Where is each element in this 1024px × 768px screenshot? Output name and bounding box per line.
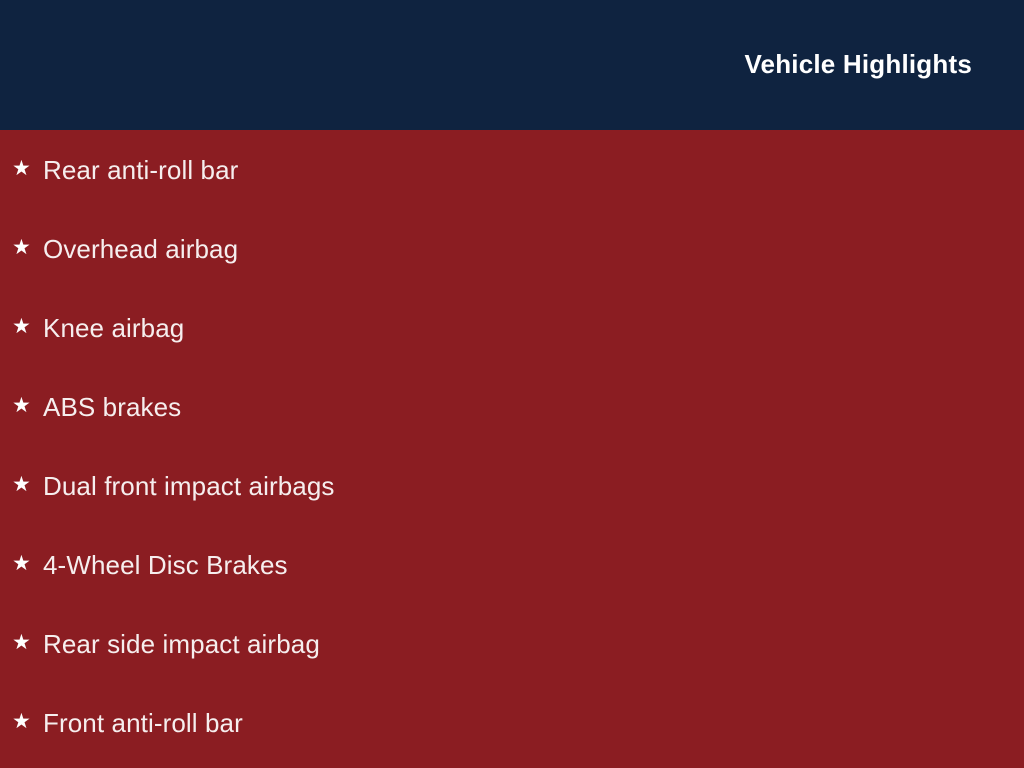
star-icon: ★ [12, 395, 34, 416]
vehicle-highlights-slide: Vehicle Highlights ★ Rear anti-roll bar … [0, 0, 1024, 768]
list-item-label: Overhead airbag [43, 236, 238, 262]
list-item-label: Rear anti-roll bar [43, 157, 238, 183]
list-item: ★ ABS brakes [0, 367, 1024, 446]
list-item: ★ Rear side impact airbag [0, 604, 1024, 683]
list-item: ★ Front anti-roll bar [0, 683, 1024, 762]
star-icon: ★ [12, 711, 34, 732]
page-title: Vehicle Highlights [744, 51, 972, 77]
star-icon: ★ [12, 474, 34, 495]
list-item-label: ABS brakes [43, 394, 181, 420]
list-item: ★ 4-Wheel Disc Brakes [0, 525, 1024, 604]
list-item-label: Rear side impact airbag [43, 631, 320, 657]
slide-body: ★ Rear anti-roll bar ★ Overhead airbag ★… [0, 130, 1024, 768]
list-item: ★ Knee airbag [0, 288, 1024, 367]
star-icon: ★ [12, 237, 34, 258]
list-item-label: Knee airbag [43, 315, 184, 341]
list-item: ★ Dual front impact airbags [0, 446, 1024, 525]
star-icon: ★ [12, 316, 34, 337]
list-item-label: Dual front impact airbags [43, 473, 335, 499]
star-icon: ★ [12, 632, 34, 653]
vehicle-highlights-list: ★ Rear anti-roll bar ★ Overhead airbag ★… [0, 130, 1024, 762]
list-item-label: 4-Wheel Disc Brakes [43, 552, 288, 578]
slide-header: Vehicle Highlights [0, 0, 1024, 130]
star-icon: ★ [12, 553, 34, 574]
star-icon: ★ [12, 158, 34, 179]
list-item: ★ Overhead airbag [0, 209, 1024, 288]
list-item: ★ Rear anti-roll bar [0, 130, 1024, 209]
list-item-label: Front anti-roll bar [43, 710, 243, 736]
